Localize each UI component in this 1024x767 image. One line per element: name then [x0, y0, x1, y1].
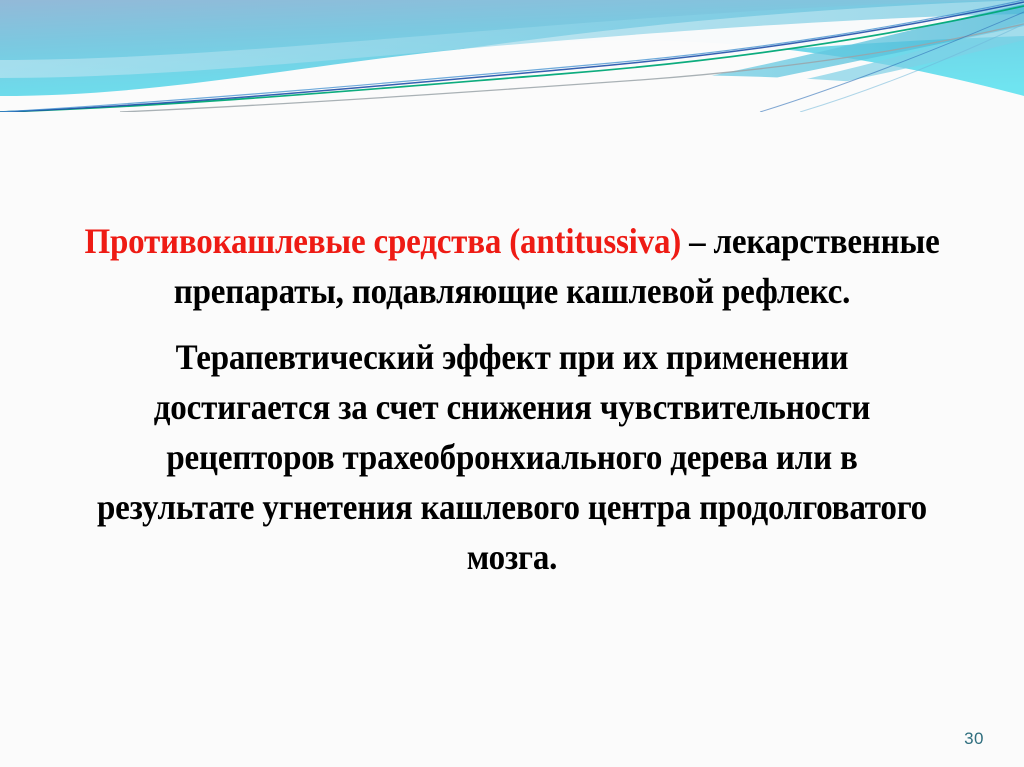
page-number: 30 [964, 729, 984, 749]
definition-paragraph: Противокашлевые средства (antitussiva) –… [84, 216, 940, 316]
mechanism-paragraph: Терапевтический эффект при их применении… [84, 332, 940, 582]
slide-text-body: Противокашлевые средства (antitussiva) –… [52, 216, 972, 582]
term-antitussiva: Противокашлевые средства (antitussiva) [84, 221, 681, 261]
presentation-slide: Противокашлевые средства (antitussiva) –… [0, 0, 1024, 767]
wave-ribbon-banner [0, 0, 1024, 112]
